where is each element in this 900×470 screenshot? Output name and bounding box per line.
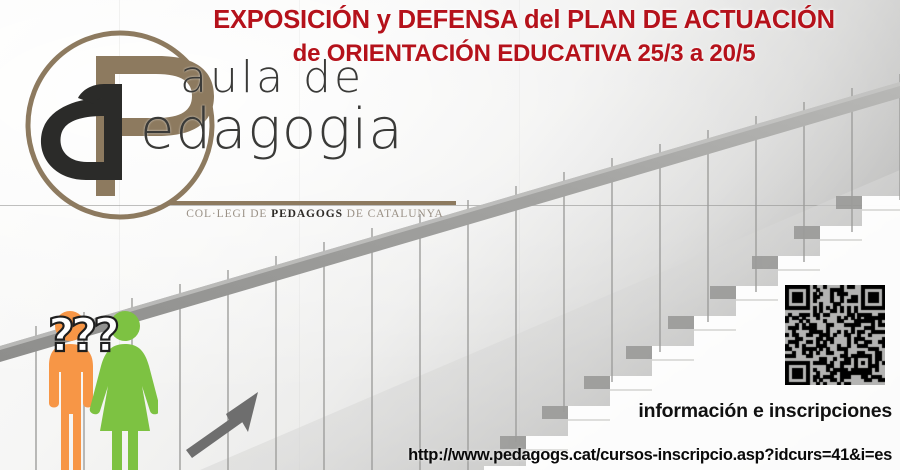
logo-subtitle-bold: PEDAGOGS xyxy=(271,208,343,220)
arrow-glyph xyxy=(186,392,266,458)
logo-subtitle-suffix: DE CATALUNYA xyxy=(343,208,444,220)
logo-subtitle: COL·LEGI DE PEDAGOGS DE CATALUNYA xyxy=(170,208,460,220)
logo-subtitle-prefix: COL·LEGI DE xyxy=(186,208,271,220)
question-marks-icon: ??? xyxy=(48,312,116,358)
qr-code[interactable] xyxy=(785,285,885,385)
up-right-arrow-icon xyxy=(186,392,266,463)
poster-canvas: aula de edagogia COL·LEGI DE PEDAGOGS DE… xyxy=(0,0,900,470)
poster-title: EXPOSICIÓN y DEFENSA del PLAN DE ACTUACI… xyxy=(150,4,898,69)
qr-code-canvas[interactable] xyxy=(785,285,885,385)
info-label: información e inscripciones xyxy=(638,400,892,423)
logo-divider-rule xyxy=(168,201,456,205)
registration-url[interactable]: http://www.pedagogs.cat/cursos-inscripci… xyxy=(408,446,892,465)
title-line-1: EXPOSICIÓN y DEFENSA del PLAN DE ACTUACI… xyxy=(150,4,898,38)
title-line-2: de ORIENTACIÓN EDUCATIVA 25/3 a 20/5 xyxy=(150,38,898,70)
logo-word-line2: edagogia xyxy=(140,103,404,158)
logo-wordmark: aula de edagogia xyxy=(176,56,404,158)
